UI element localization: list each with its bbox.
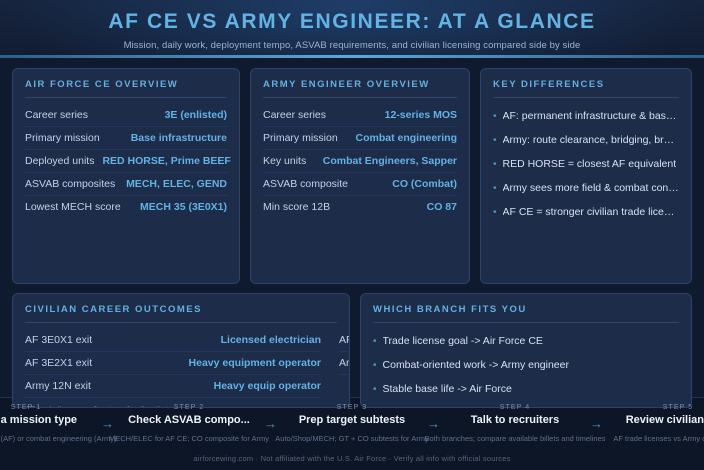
pair-value: Heavy equip operator [214, 380, 321, 392]
bullet-dot-icon: • [373, 335, 377, 348]
which-branch-list: • Trade license goal -> Air Force CE • C… [373, 329, 679, 408]
card-title-af-ce-overview: Air Force CE Overview [25, 79, 227, 98]
list-item: • Combat-oriented work -> Army engineer [373, 353, 679, 377]
table-row: AF 3E0X1 exit Licensed electrician [25, 329, 321, 352]
step-item-1[interactable]: Step 1 Pick a mission type Base infrastr… [0, 404, 95, 426]
card-which-branch-fits-you: Which Branch Fits You • Trade license go… [360, 293, 692, 408]
card-army-engineer-overview: Army Engineer Overview Career series 12-… [250, 68, 470, 284]
list-item-label: AF CE = stronger civilian trade licensin… [503, 206, 679, 218]
infographic-page: AF CE vs Army Engineer: At a Glance Miss… [0, 0, 704, 470]
stat-row: Key units Combat Engineers, Sapper [263, 150, 457, 173]
table-row: Army 12B exit Construction trades [339, 352, 350, 375]
step-kicker: Step 1 [0, 404, 95, 411]
stat-value: 12-series MOS [385, 109, 457, 121]
stat-row: Career series 12-series MOS [263, 104, 457, 127]
stat-label: Deployed units [25, 155, 94, 167]
stat-row: Primary mission Base infrastructure [25, 127, 227, 150]
stat-value: Combat Engineers, Sapper [323, 155, 457, 167]
table-row: AF 3E2X1 exit Heavy equipment operator [25, 352, 321, 375]
pair-label: Army 12B exit [339, 357, 350, 369]
pair-label: AF 3E0X1 exit [25, 334, 92, 346]
steps-strip: Step 1 Pick a mission type Base infrastr… [0, 397, 704, 450]
list-item-label: Stable base life -> Air Force [383, 383, 512, 395]
pair-value: Licensed electrician [221, 334, 321, 346]
stat-value: Combat engineering [355, 132, 457, 144]
bullet-dot-icon: • [493, 110, 497, 123]
card-civilian-career-outcomes: Civilian Career Outcomes AF 3E0X1 exit L… [12, 293, 350, 408]
step-name: Prep target subtests [284, 414, 421, 426]
stat-row: Career series 3E (enlisted) [25, 104, 227, 127]
stat-label: ASVAB composite [263, 178, 348, 190]
stat-label: Primary mission [25, 132, 100, 144]
stat-label: Career series [263, 109, 326, 121]
page-header: AF CE vs Army Engineer: At a Glance Miss… [0, 0, 704, 58]
step-kicker: Step 3 [284, 404, 421, 411]
card-title-army-engineer-overview: Army Engineer Overview [263, 79, 457, 98]
stat-value: Base infrastructure [131, 132, 227, 144]
list-item-label: RED HORSE = closest AF equivalent [503, 158, 677, 170]
step-name: Review civilian path [610, 414, 704, 426]
bullet-dot-icon: • [493, 182, 497, 195]
step-kicker: Step 5 [610, 404, 704, 411]
list-item: • AF: permanent infrastructure & base op… [493, 104, 679, 128]
list-item: • AF CE = stronger civilian trade licens… [493, 200, 679, 224]
stat-row: Lowest MECH score MECH 35 (3E0X1) [25, 196, 227, 218]
civilian-outcomes-grid: AF 3E0X1 exit Licensed electrician AF 3E… [25, 329, 350, 398]
step-item-2[interactable]: Step 2 Check ASVAB compo... MECH/ELEC fo… [121, 404, 258, 426]
list-item-label: Trade license goal -> Air Force CE [383, 335, 543, 347]
key-differences-list: • AF: permanent infrastructure & base op… [493, 104, 679, 224]
stat-value: RED HORSE, Prime BEEF [102, 155, 230, 167]
card-title-key-differences: Key Differences [493, 79, 679, 98]
pair-label: AF 3E2X1 exit [25, 357, 92, 369]
stat-row: Primary mission Combat engineering [263, 127, 457, 150]
step-kicker: Step 2 [121, 404, 258, 411]
bullet-dot-icon: • [493, 158, 497, 171]
stat-row: Deployed units RED HORSE, Prime BEEF [25, 150, 227, 173]
stat-value: MECH, ELEC, GEND [126, 178, 227, 190]
step-item-5[interactable]: Step 5 Review civilian path AF trade lic… [610, 404, 704, 426]
stat-label: ASVAB composites [25, 178, 115, 190]
list-item-label: AF: permanent infrastructure & base ops [503, 110, 679, 122]
table-row: Army 12N exit Heavy equip operator [25, 375, 321, 398]
stat-row: ASVAB composite CO (Combat) [263, 173, 457, 196]
card-af-ce-overview: Air Force CE Overview Career series 3E (… [12, 68, 240, 284]
stat-value: CO 87 [427, 201, 457, 213]
table-row: AF 3E1X1 exit HVAC technician [339, 329, 350, 352]
stat-value: 3E (enlisted) [165, 109, 227, 121]
stat-label: Min score 12B [263, 201, 330, 213]
card-title-which-branch-fits-you: Which Branch Fits You [373, 304, 679, 323]
bullet-dot-icon: • [493, 134, 497, 147]
step-description: Base infrastructure (AF) or combat engin… [0, 434, 116, 443]
card-key-differences: Key Differences • AF: permanent infrastr… [480, 68, 692, 284]
arrow-right-icon: → [584, 404, 610, 430]
step-name: Pick a mission type [0, 414, 95, 426]
content-area: Air Force CE Overview Career series 3E (… [0, 58, 704, 389]
stat-value: CO (Combat) [392, 178, 457, 190]
list-item-label: Army: route clearance, bridging, breachi… [503, 134, 679, 146]
step-description: MECH/ELEC for AF CE; CO composite for Ar… [109, 434, 269, 443]
arrow-right-icon: → [421, 404, 447, 430]
stat-label: Primary mission [263, 132, 338, 144]
bullet-dot-icon: • [493, 206, 497, 219]
step-kicker: Step 4 [447, 404, 584, 411]
stat-row: Min score 12B CO 87 [263, 196, 457, 218]
bullet-dot-icon: • [373, 383, 377, 396]
stat-value: MECH 35 (3E0X1) [140, 201, 227, 213]
stat-row: ASVAB composites MECH, ELEC, GEND [25, 173, 227, 196]
bottom-card-row: Civilian Career Outcomes AF 3E0X1 exit L… [12, 293, 692, 408]
list-item: • Army sees more field & combat conditio… [493, 176, 679, 200]
top-card-row: Air Force CE Overview Career series 3E (… [12, 68, 692, 284]
list-item: • RED HORSE = closest AF equivalent [493, 152, 679, 176]
list-item-label: Army sees more field & combat conditions [503, 182, 679, 194]
step-item-4[interactable]: Step 4 Talk to recruiters Both branches;… [447, 404, 584, 426]
page-subtitle: Mission, daily work, deployment tempo, A… [0, 33, 704, 51]
list-item: • Stable base life -> Air Force [373, 377, 679, 401]
arrow-right-icon: → [258, 404, 284, 430]
steps-row: Step 1 Pick a mission type Base infrastr… [0, 404, 704, 450]
pair-label: Army 12N exit [25, 380, 91, 392]
stat-label: Lowest MECH score [25, 201, 121, 213]
list-item-label: Combat-oriented work -> Army engineer [383, 359, 569, 371]
arrow-right-icon: → [95, 404, 121, 430]
stat-label: Key units [263, 155, 306, 167]
stat-label: Career series [25, 109, 88, 121]
pair-value: Heavy equipment operator [189, 357, 321, 369]
page-title: AF CE vs Army Engineer: At a Glance [0, 0, 704, 33]
card-title-civilian-career-outcomes: Civilian Career Outcomes [25, 304, 337, 323]
list-item: • Trade license goal -> Air Force CE [373, 329, 679, 353]
page-footer: airforcewing.com · Not affiliated with t… [0, 450, 704, 470]
step-description: AF trade licenses vs Army construction [613, 434, 704, 443]
step-item-3[interactable]: Step 3 Prep target subtests Auto/Shop/ME… [284, 404, 421, 426]
step-description: Auto/Shop/MECH; GT + CO subtests for Arm… [275, 434, 428, 443]
step-name: Check ASVAB compo... [121, 414, 258, 426]
step-name: Talk to recruiters [447, 414, 584, 426]
bullet-dot-icon: • [373, 359, 377, 372]
step-description: Both branches; compare available billets… [425, 434, 606, 443]
pair-label: AF 3E1X1 exit [339, 334, 350, 346]
list-item: • Army: route clearance, bridging, breac… [493, 128, 679, 152]
